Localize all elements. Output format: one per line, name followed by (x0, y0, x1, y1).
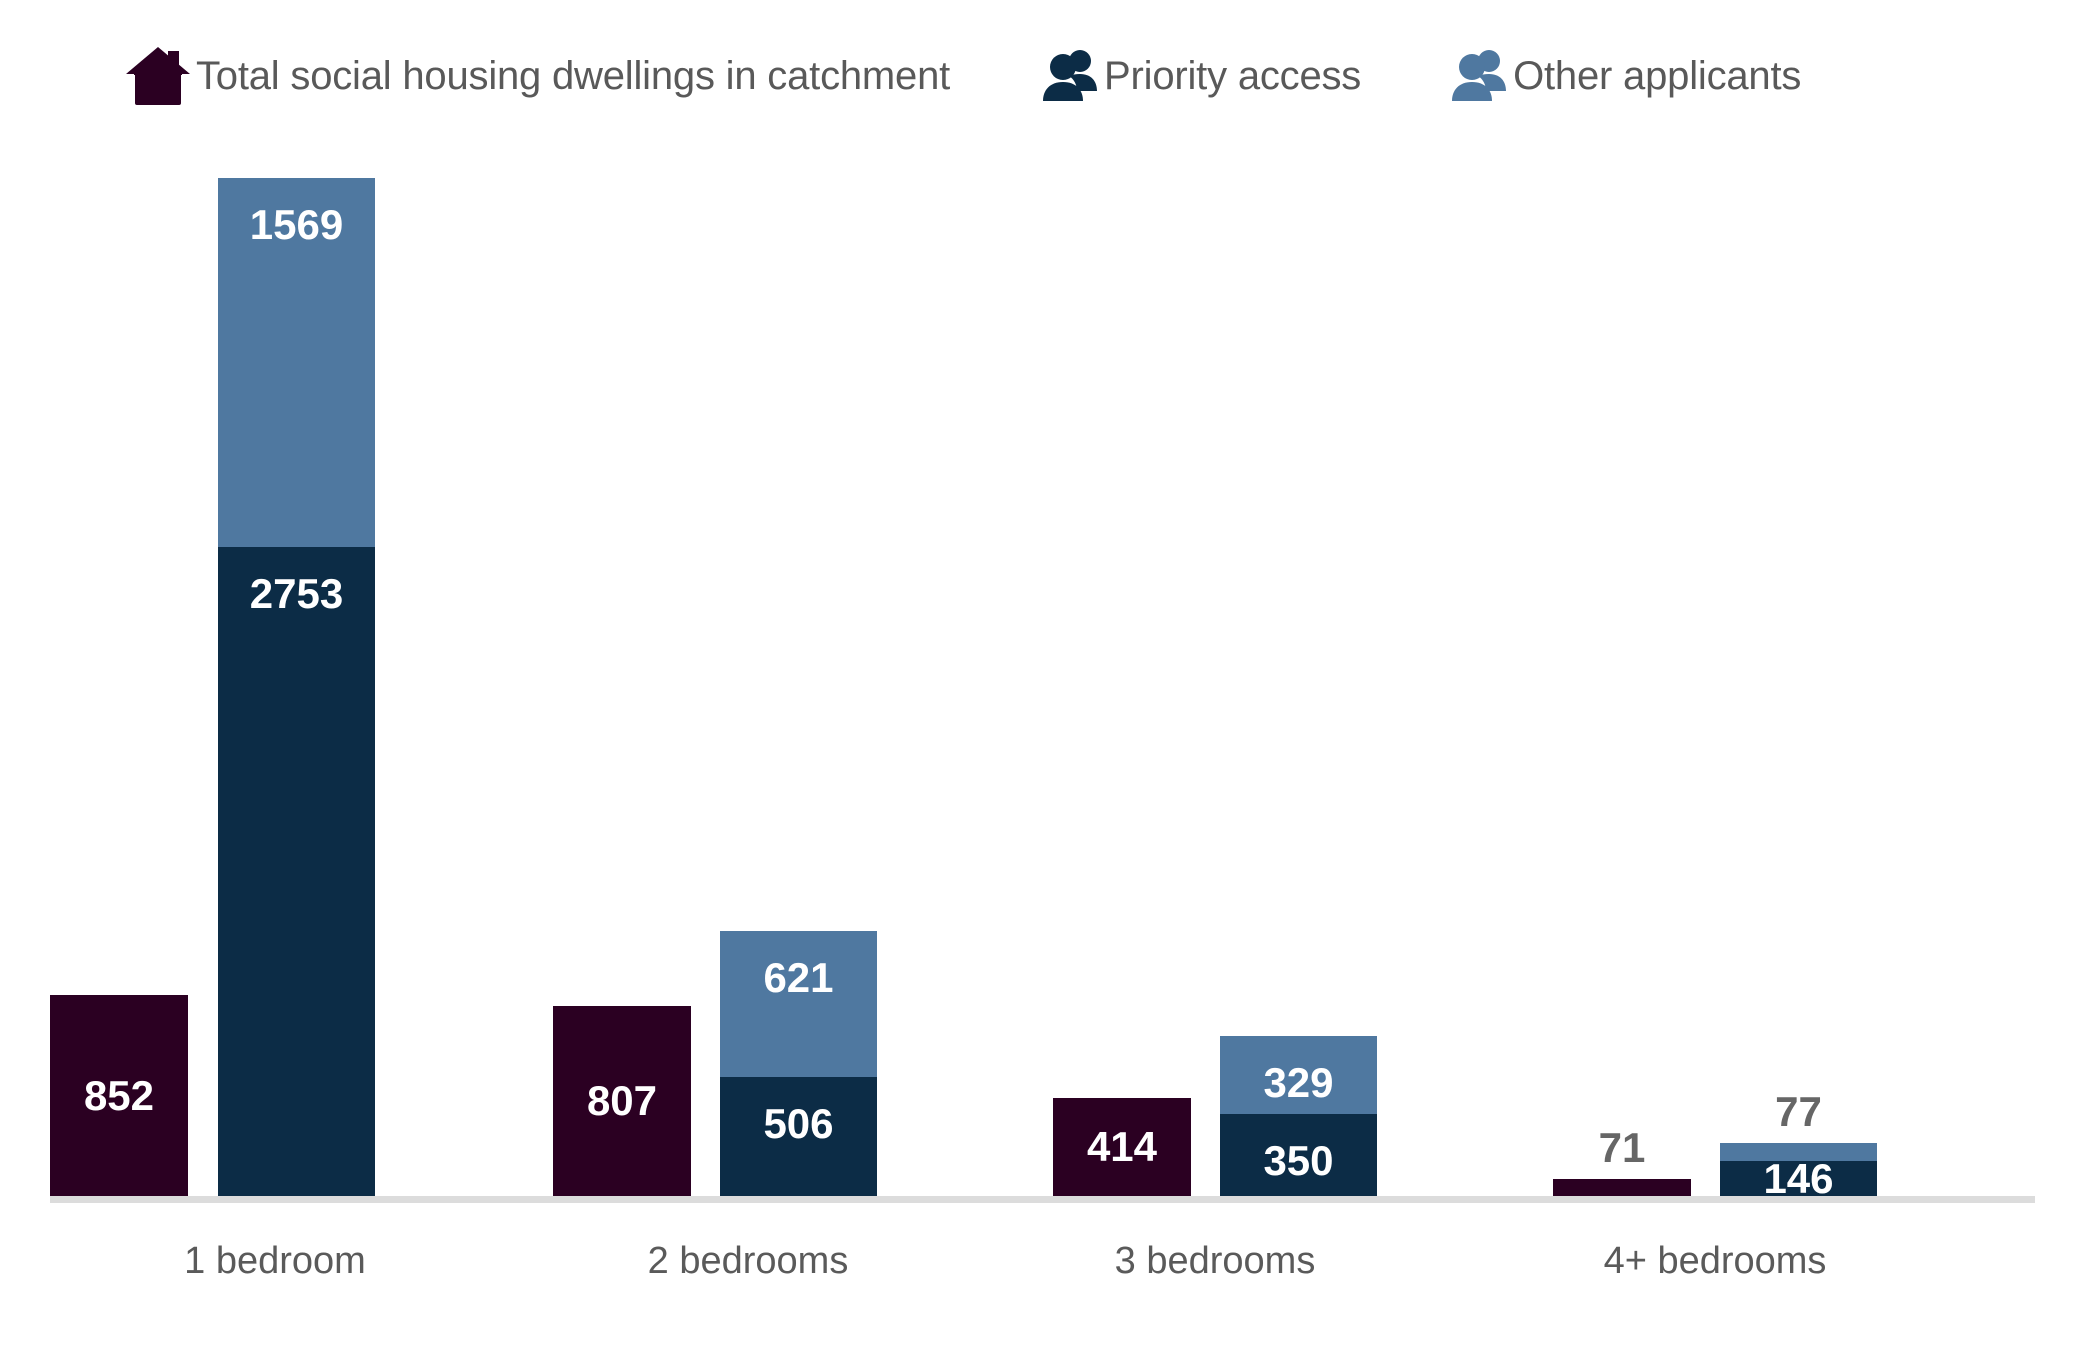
bar-segment-priority-access: 350 (1220, 1114, 1377, 1196)
bar-value-label: 621 (720, 957, 877, 999)
bar-4-plus-bedrooms-applicants[interactable]: 146 (1720, 1143, 1877, 1196)
bar-value-label: 414 (1053, 1126, 1191, 1168)
bar-2-bedrooms-dwellings[interactable]: 807 (553, 1006, 691, 1196)
bar-segment-other-applicants: 621 (720, 931, 877, 1077)
bar-segment-other-applicants: 329 (1220, 1036, 1377, 1114)
bar-segment-dwellings: 807 (553, 1006, 691, 1196)
bar-value-label: 506 (720, 1103, 877, 1145)
x-axis-label-4-plus-bedrooms: 4+ bedrooms (1490, 1242, 1940, 1280)
bar-segment-dwellings (1553, 1179, 1691, 1196)
chart-container: Total social housing dwellings in catchm… (0, 0, 2079, 1361)
bar-value-label: 350 (1220, 1140, 1377, 1182)
bar-segment-priority-access: 2753 (218, 547, 375, 1196)
bar-3-bedrooms-applicants[interactable]: 329 350 (1220, 1036, 1377, 1196)
bar-value-label-4-plus-other: 77 (1720, 1091, 1877, 1133)
bar-2-bedrooms-applicants[interactable]: 621 506 (720, 931, 877, 1196)
x-axis-label-2-bedrooms: 2 bedrooms (523, 1242, 973, 1280)
bar-value-label-4-plus-dwellings: 71 (1553, 1127, 1691, 1169)
bar-value-label: 1569 (218, 204, 375, 246)
x-axis-label-1-bedroom: 1 bedroom (50, 1242, 500, 1280)
bar-segment-dwellings: 414 (1053, 1098, 1191, 1196)
x-axis-line (50, 1196, 2035, 1203)
x-axis-label-3-bedrooms: 3 bedrooms (990, 1242, 1440, 1280)
bar-3-bedrooms-dwellings[interactable]: 414 (1053, 1098, 1191, 1196)
bar-value-label: 2753 (218, 573, 375, 615)
bar-segment-dwellings: 852 (50, 995, 188, 1196)
bar-segment-priority-access: 506 (720, 1077, 877, 1196)
bar-value-label: 329 (1220, 1062, 1377, 1104)
bar-value-label: 146 (1720, 1158, 1877, 1200)
bar-value-label: 807 (553, 1080, 691, 1122)
bar-4-plus-bedrooms-dwellings[interactable] (1553, 1179, 1691, 1196)
bar-segment-other-applicants: 1569 (218, 178, 375, 547)
bar-1-bedroom-applicants[interactable]: 1569 2753 (218, 178, 375, 1196)
plot-area: 852 1569 2753 807 621 506 (0, 0, 2079, 1361)
bar-1-bedroom-dwellings[interactable]: 852 (50, 995, 188, 1196)
bar-value-label: 852 (50, 1075, 188, 1117)
bar-segment-priority-access: 146 (1720, 1161, 1877, 1196)
